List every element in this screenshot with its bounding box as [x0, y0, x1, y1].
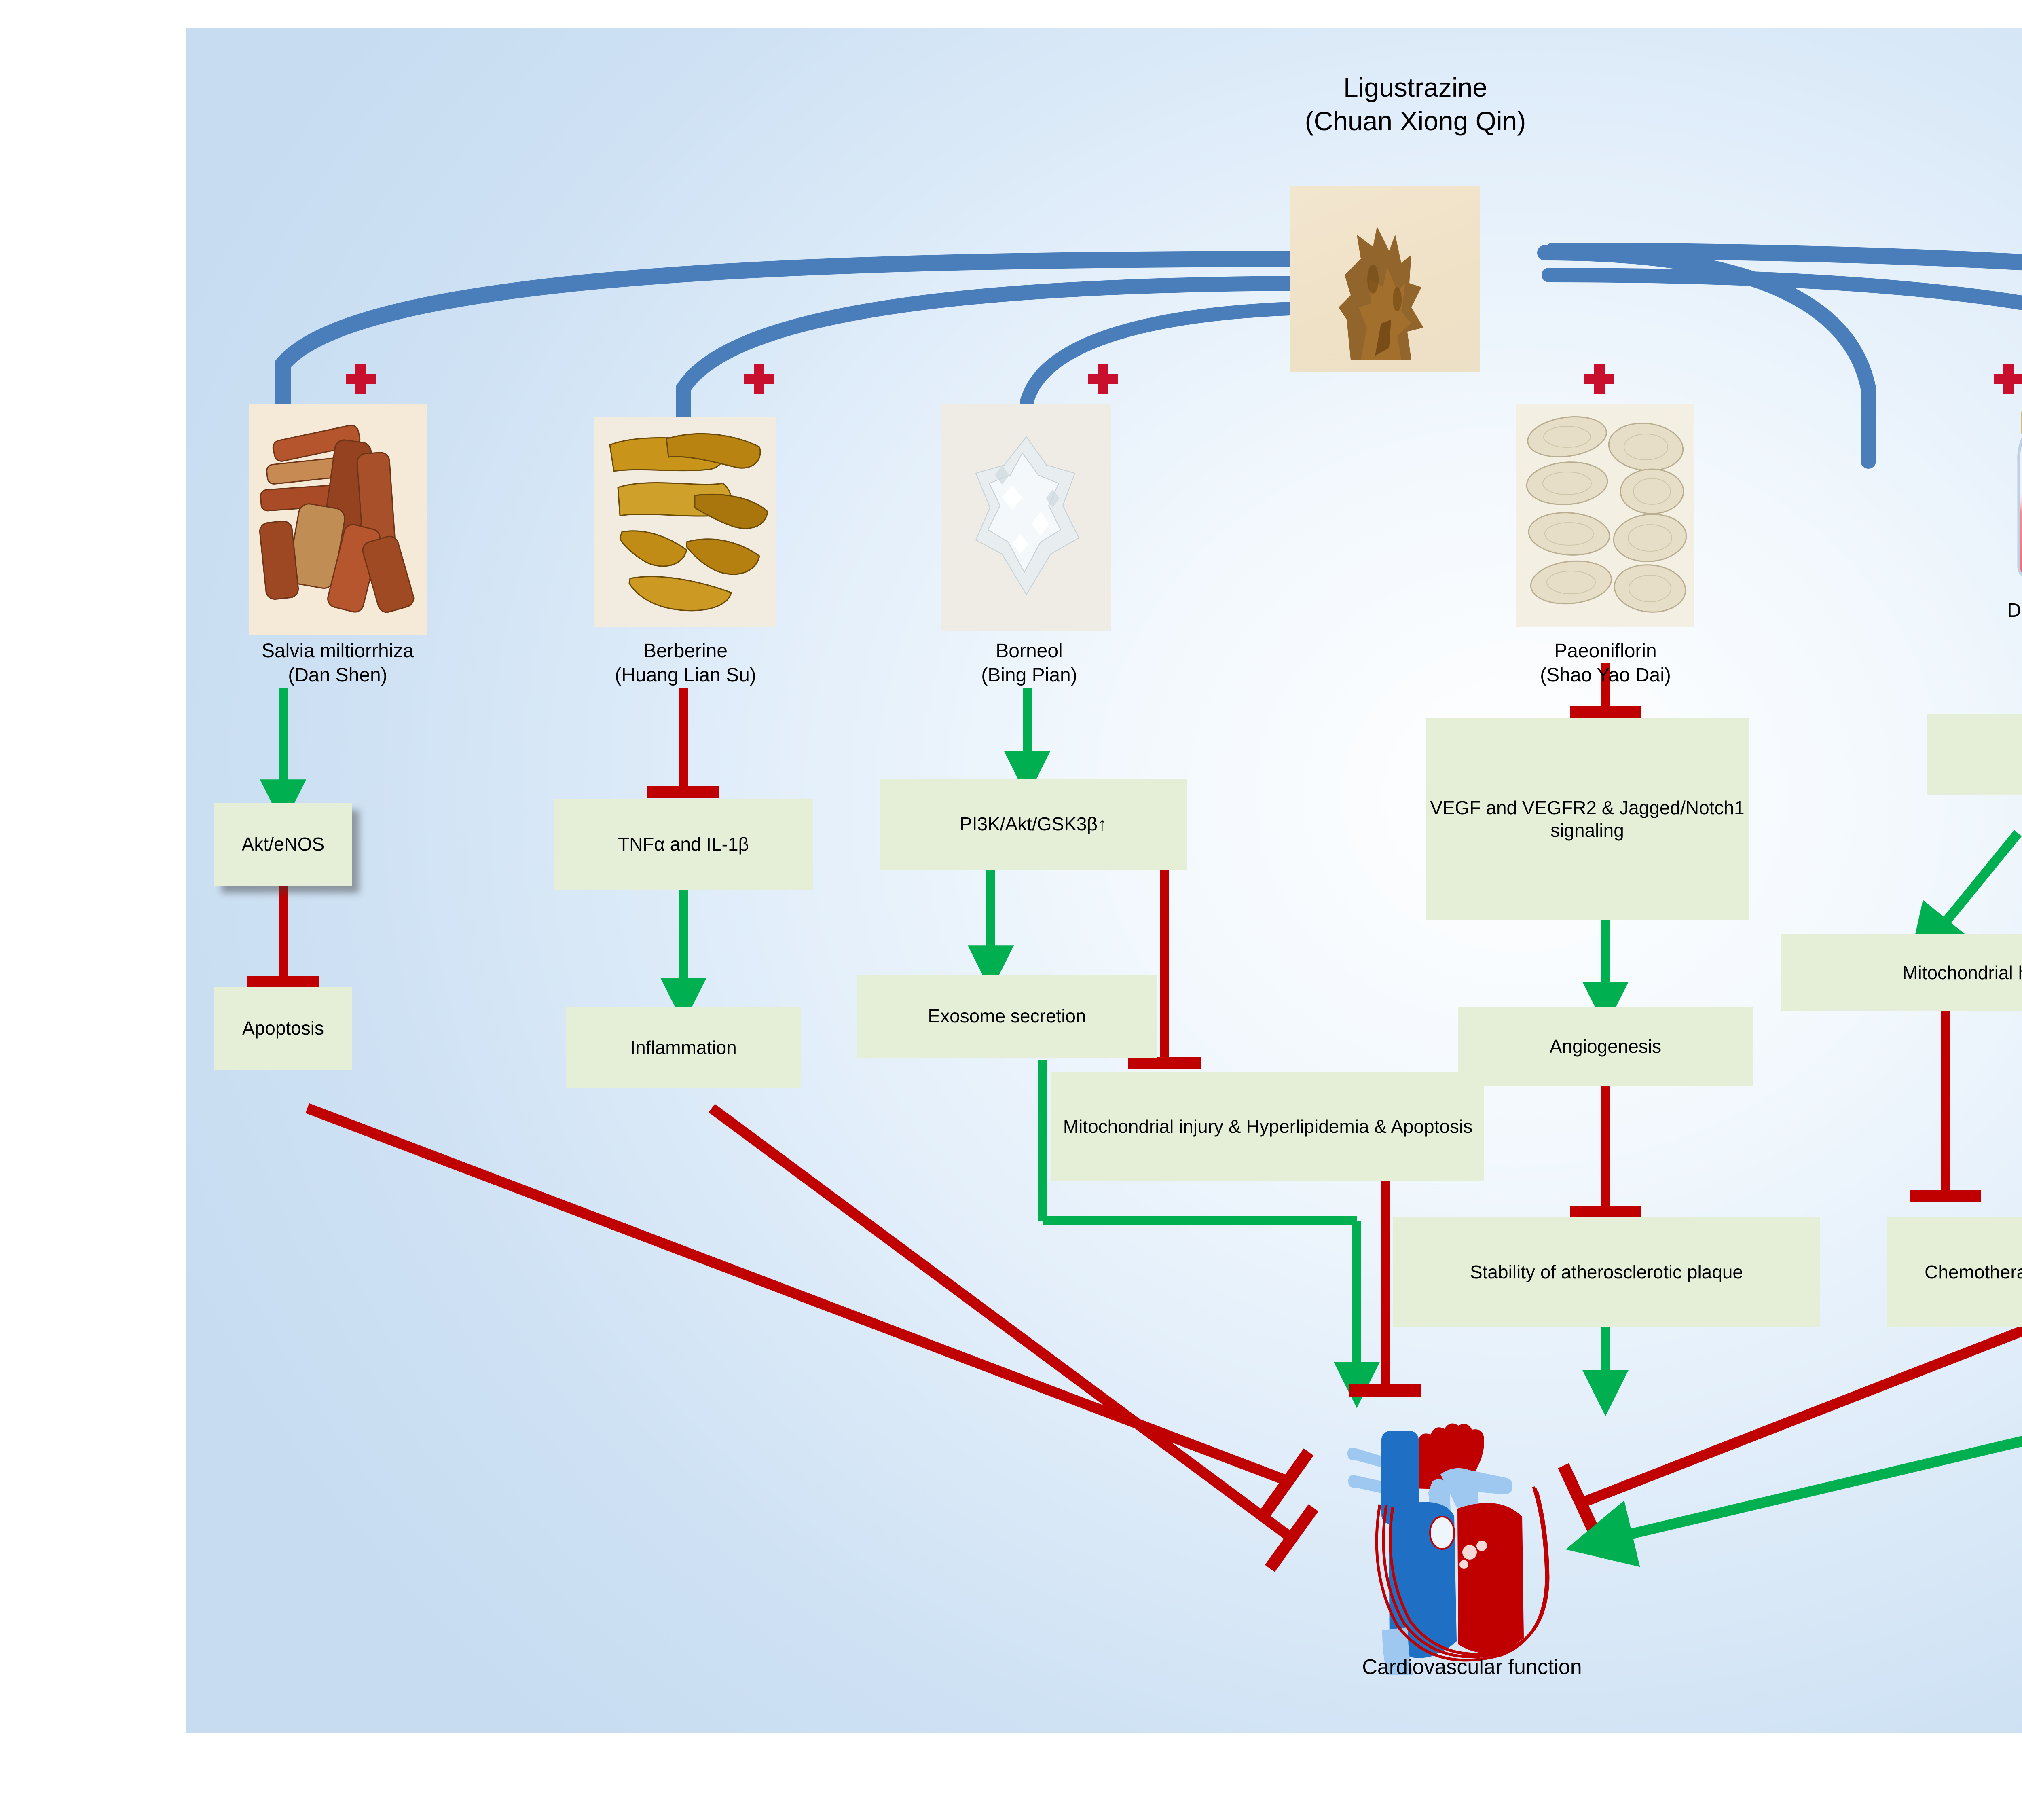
- node-vegf-signaling-label: VEGF and VEGFR2 & Jagged/Notch1 signalin…: [1430, 796, 1745, 842]
- agent-chinese-berberine: (Huang Lian Su): [493, 663, 878, 688]
- yellow-rhizome-photo: [594, 417, 776, 627]
- node-angiogenesis: Angiogenesis: [1458, 1007, 1753, 1086]
- figure-title-line2: (Chuan Xiong Qin): [1173, 104, 1658, 138]
- plus-icon-doxorubicin: [1994, 364, 2022, 394]
- figure-root: Ligustrazine (Chuan Xiong Qin): [0, 0, 2022, 1820]
- node-akt-enos-label: Akt/eNOS: [242, 833, 325, 855]
- node-tnf-il1b: TNFα and IL-1β: [554, 799, 813, 890]
- plus-icon-borneol: [1088, 364, 1118, 394]
- node-chemo-damage: Chemotherapy induced-Cardiovascular dama…: [1887, 1217, 2022, 1327]
- node-akt-enos: Akt/eNOS: [214, 803, 352, 886]
- agent-caption-salvia: Salvia miltiorrhiza (Dan Shen): [135, 639, 540, 688]
- node-mito-injury-label: Mitochondrial injury & Hyperlipidemia & …: [1063, 1115, 1472, 1138]
- node-exosome-secretion-label: Exosome secretion: [928, 1005, 1086, 1027]
- node-tnf-il1b-label: TNFα and IL-1β: [618, 833, 749, 855]
- agent-caption-borneol: Borneol (Bing Pian): [841, 639, 1217, 688]
- node-mito-injury: Mitochondrial injury & Hyperlipidemia & …: [1051, 1072, 1484, 1181]
- dried-root-slices-photo: [249, 404, 427, 635]
- outcome-label: Cardiovascular function: [1181, 1654, 1763, 1680]
- node-inflammation-label: Inflammation: [630, 1036, 736, 1059]
- agent-chinese-salvia: (Dan Shen): [135, 663, 540, 688]
- node-chemo-damage-label: Chemotherapy induced-Cardiovascular dama…: [1925, 1261, 2022, 1283]
- plus-icon-berberine: [744, 364, 774, 394]
- white-crystal-powder-photo: [941, 404, 1111, 631]
- node-vegf-signaling: VEGF and VEGFR2 & Jagged/Notch1 signalin…: [1426, 718, 1749, 920]
- figure-title-line1: Ligustrazine: [1173, 71, 1658, 104]
- agent-caption-berberine: Berberine (Huang Lian Su): [493, 639, 878, 688]
- node-angiogenesis-label: Angiogenesis: [1550, 1035, 1661, 1058]
- heart-illustration: [1290, 1387, 1646, 1695]
- ligustrazine-photo: [1290, 186, 1480, 372]
- anatomical-heart-illustration: [1290, 1387, 1646, 1695]
- agent-name-salvia: Salvia miltiorrhiza: [135, 639, 540, 663]
- agent-caption-paeoniflorin: Paeoniflorin (Shao Yao Dai): [1403, 639, 1808, 688]
- chuanxiong-rhizome-icon: [1290, 186, 1480, 372]
- berberine-photo: [594, 417, 776, 627]
- doxorubicin-vial: DOX: [1998, 404, 2022, 586]
- node-exosome-secretion: Exosome secretion: [857, 975, 1157, 1058]
- agent-name-berberine: Berberine: [493, 639, 878, 663]
- plus-icon-salvia: [346, 364, 376, 394]
- node-pi3k-label: PI3K/Akt/GSK3β↑: [960, 813, 1107, 835]
- node-plaque-stability: Stability of atherosclerotic plaque: [1393, 1217, 1820, 1327]
- salvia-photo: [249, 404, 427, 635]
- node-apoptosis: Apoptosis: [214, 987, 352, 1070]
- node-mito-health: Mitochondrial health: [1781, 934, 2022, 1011]
- agent-name-paeoniflorin: Paeoniflorin: [1403, 639, 1808, 663]
- plus-icon-paeoniflorin: [1584, 364, 1614, 394]
- figure-title: Ligustrazine (Chuan Xiong Qin): [1173, 71, 1658, 138]
- node-14-3-3-gamma: 14-3-3γ: [1927, 714, 2022, 795]
- pale-root-slices-photo: [1516, 404, 1694, 627]
- outcome-caption: Cardiovascular function: [1181, 1654, 1763, 1680]
- paeoniflorin-photo: [1516, 404, 1694, 627]
- drug-vial-icon: DOX: [1998, 404, 2022, 586]
- node-apoptosis-label: Apoptosis: [242, 1017, 324, 1039]
- agent-caption-doxorubicin: Doxorubicin: [1860, 599, 2022, 623]
- node-mito-health-label: Mitochondrial health: [1902, 961, 2022, 984]
- node-inflammation: Inflammation: [566, 1007, 801, 1088]
- agent-name-borneol: Borneol: [841, 639, 1217, 663]
- borneol-photo: [941, 404, 1111, 631]
- agent-name-doxorubicin: Doxorubicin: [1860, 599, 2022, 623]
- agent-chinese-paeoniflorin: (Shao Yao Dai): [1403, 663, 1808, 688]
- agent-chinese-borneol: (Bing Pian): [841, 663, 1217, 688]
- node-plaque-stability-label: Stability of atherosclerotic plaque: [1470, 1261, 1743, 1283]
- node-pi3k: PI3K/Akt/GSK3β↑: [880, 779, 1187, 870]
